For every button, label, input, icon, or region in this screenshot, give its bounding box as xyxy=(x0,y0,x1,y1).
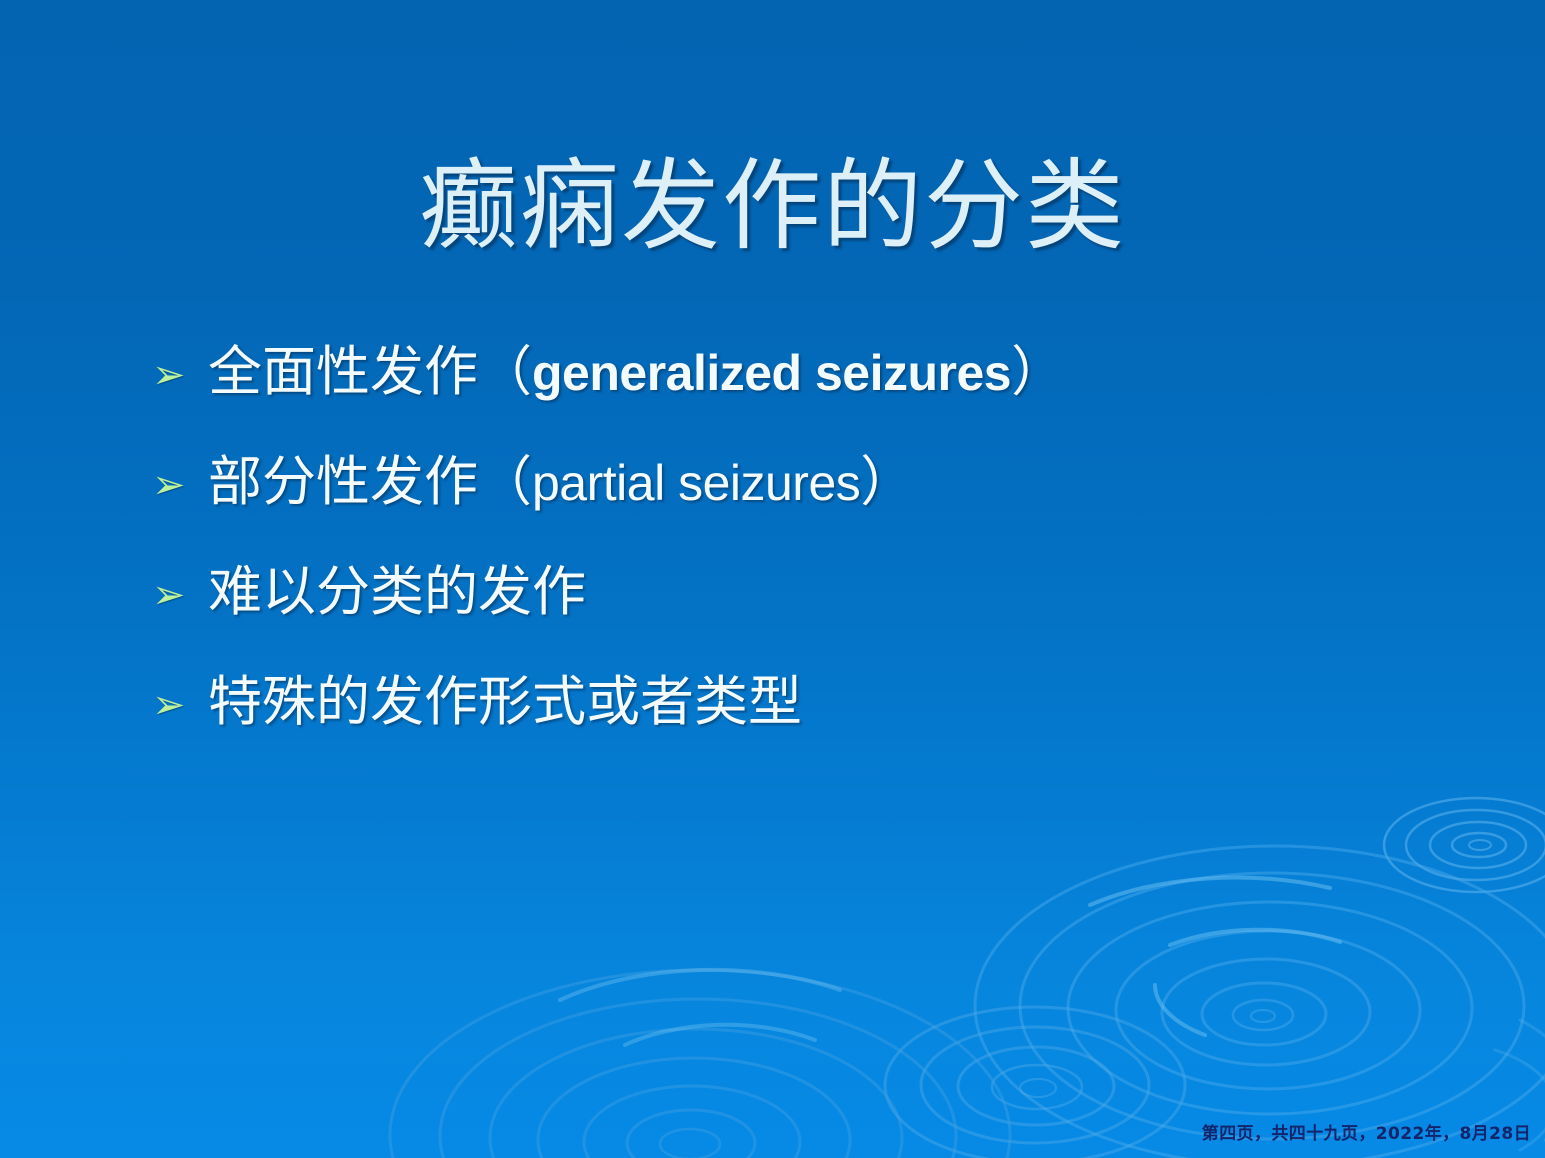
list-item-text: 难以分类的发作 xyxy=(208,558,1442,626)
list-item-text: 特殊的发作形式或者类型 xyxy=(208,668,1442,736)
list-item-english: partial seizures xyxy=(532,455,860,511)
presentation-slide: 癫痫发作的分类 ➢ 全面性发作（generalized seizures） ➢ … xyxy=(0,0,1545,1158)
paren-close: ） xyxy=(860,450,914,513)
list-item: ➢ 全面性发作（generalized seizures） xyxy=(152,338,1442,448)
list-item-chinese: 部分性发作 xyxy=(208,450,478,513)
list-item-text: 全面性发作（generalized seizures） xyxy=(208,338,1442,407)
list-item: ➢ 难以分类的发作 xyxy=(152,558,1442,668)
paren-open: （ xyxy=(478,340,532,403)
list-item-english: generalized seizures xyxy=(532,345,1011,401)
list-item-chinese: 难以分类的发作 xyxy=(208,560,586,623)
arrow-bullet-icon: ➢ xyxy=(152,558,208,626)
list-item: ➢ 特殊的发作形式或者类型 xyxy=(152,668,1442,778)
paren-close: ） xyxy=(1011,340,1065,403)
arrow-bullet-icon: ➢ xyxy=(152,338,208,406)
slide-title: 癫痫发作的分类 xyxy=(0,152,1545,263)
list-item-chinese: 全面性发作 xyxy=(208,340,478,403)
list-item: ➢ 部分性发作（partial seizures） xyxy=(152,448,1442,558)
arrow-bullet-icon: ➢ xyxy=(152,668,208,736)
list-item-text: 部分性发作（partial seizures） xyxy=(208,448,1442,517)
list-item-chinese: 特殊的发作形式或者类型 xyxy=(208,670,802,733)
paren-open: （ xyxy=(478,450,532,513)
bullet-list: ➢ 全面性发作（generalized seizures） ➢ 部分性发作（pa… xyxy=(152,338,1442,778)
arrow-bullet-icon: ➢ xyxy=(152,448,208,516)
slide-footer: 第四页，共四十九页，2022年，8月28日 xyxy=(1202,1119,1531,1144)
